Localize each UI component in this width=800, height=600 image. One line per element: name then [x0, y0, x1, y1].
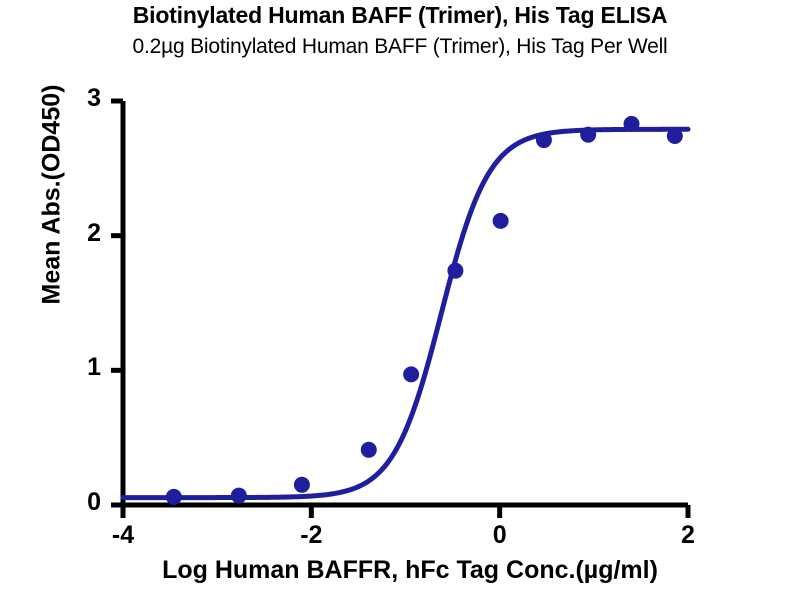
data-point	[361, 442, 377, 458]
data-point	[667, 128, 683, 144]
data-point	[403, 366, 419, 382]
data-point	[294, 477, 310, 493]
data-point	[447, 263, 463, 279]
y-tick-label-0: 0	[61, 488, 101, 517]
data-point	[166, 489, 182, 505]
chart-page: Biotinylated Human BAFF (Trimer), His Ta…	[0, 0, 800, 600]
data-point	[580, 127, 596, 143]
x-axis-label: Log Human BAFFR, hFc Tag Conc.(µg/ml)	[60, 556, 760, 585]
x-tick-label-1: -2	[281, 521, 341, 550]
data-points-layer	[166, 116, 683, 505]
y-tick-label-3: 3	[61, 84, 101, 113]
y-tick-label-1: 1	[61, 353, 101, 382]
plot-area: 0123 -4-202 Mean Abs.(OD450) Log Human B…	[0, 0, 800, 600]
data-point	[624, 116, 640, 132]
x-tick-label-3: 2	[658, 521, 718, 550]
y-axis-label: Mean Abs.(OD450)	[38, 65, 67, 325]
axis-layer	[111, 101, 688, 518]
data-point	[231, 488, 247, 504]
y-tick-label-2: 2	[61, 219, 101, 248]
x-tick-label-2: 0	[470, 521, 530, 550]
fit-curve-layer	[123, 129, 688, 497]
x-tick-label-0: -4	[93, 521, 153, 550]
data-point	[536, 132, 552, 148]
plot-canvas	[0, 0, 800, 600]
data-point	[493, 213, 509, 229]
fit-curve	[123, 129, 688, 497]
